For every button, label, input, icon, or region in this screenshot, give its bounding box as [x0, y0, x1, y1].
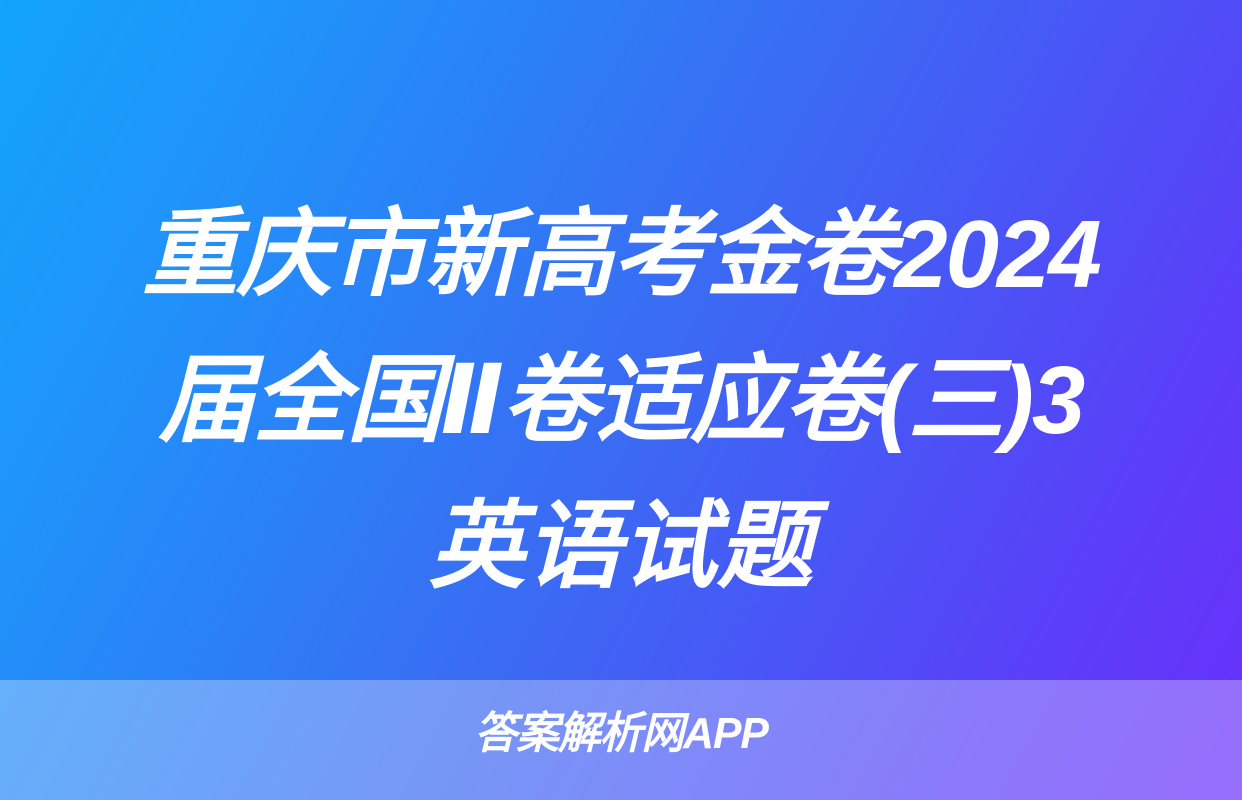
watermark-label: 答案解析网APP: [474, 708, 767, 760]
title-line-3: 英语试题: [10, 474, 1232, 620]
cover-image: 重庆市新高考金卷2024 届全国Ⅱ卷适应卷(三)3 英语试题 答案解析网APP: [0, 0, 1242, 800]
page-title: 重庆市新高考金卷2024 届全国Ⅱ卷适应卷(三)3 英语试题: [0, 182, 1242, 620]
title-line-2: 届全国Ⅱ卷适应卷(三)3: [10, 328, 1232, 474]
watermark: 答案解析网APP: [0, 708, 1242, 760]
title-line-1: 重庆市新高考金卷2024: [10, 182, 1232, 328]
